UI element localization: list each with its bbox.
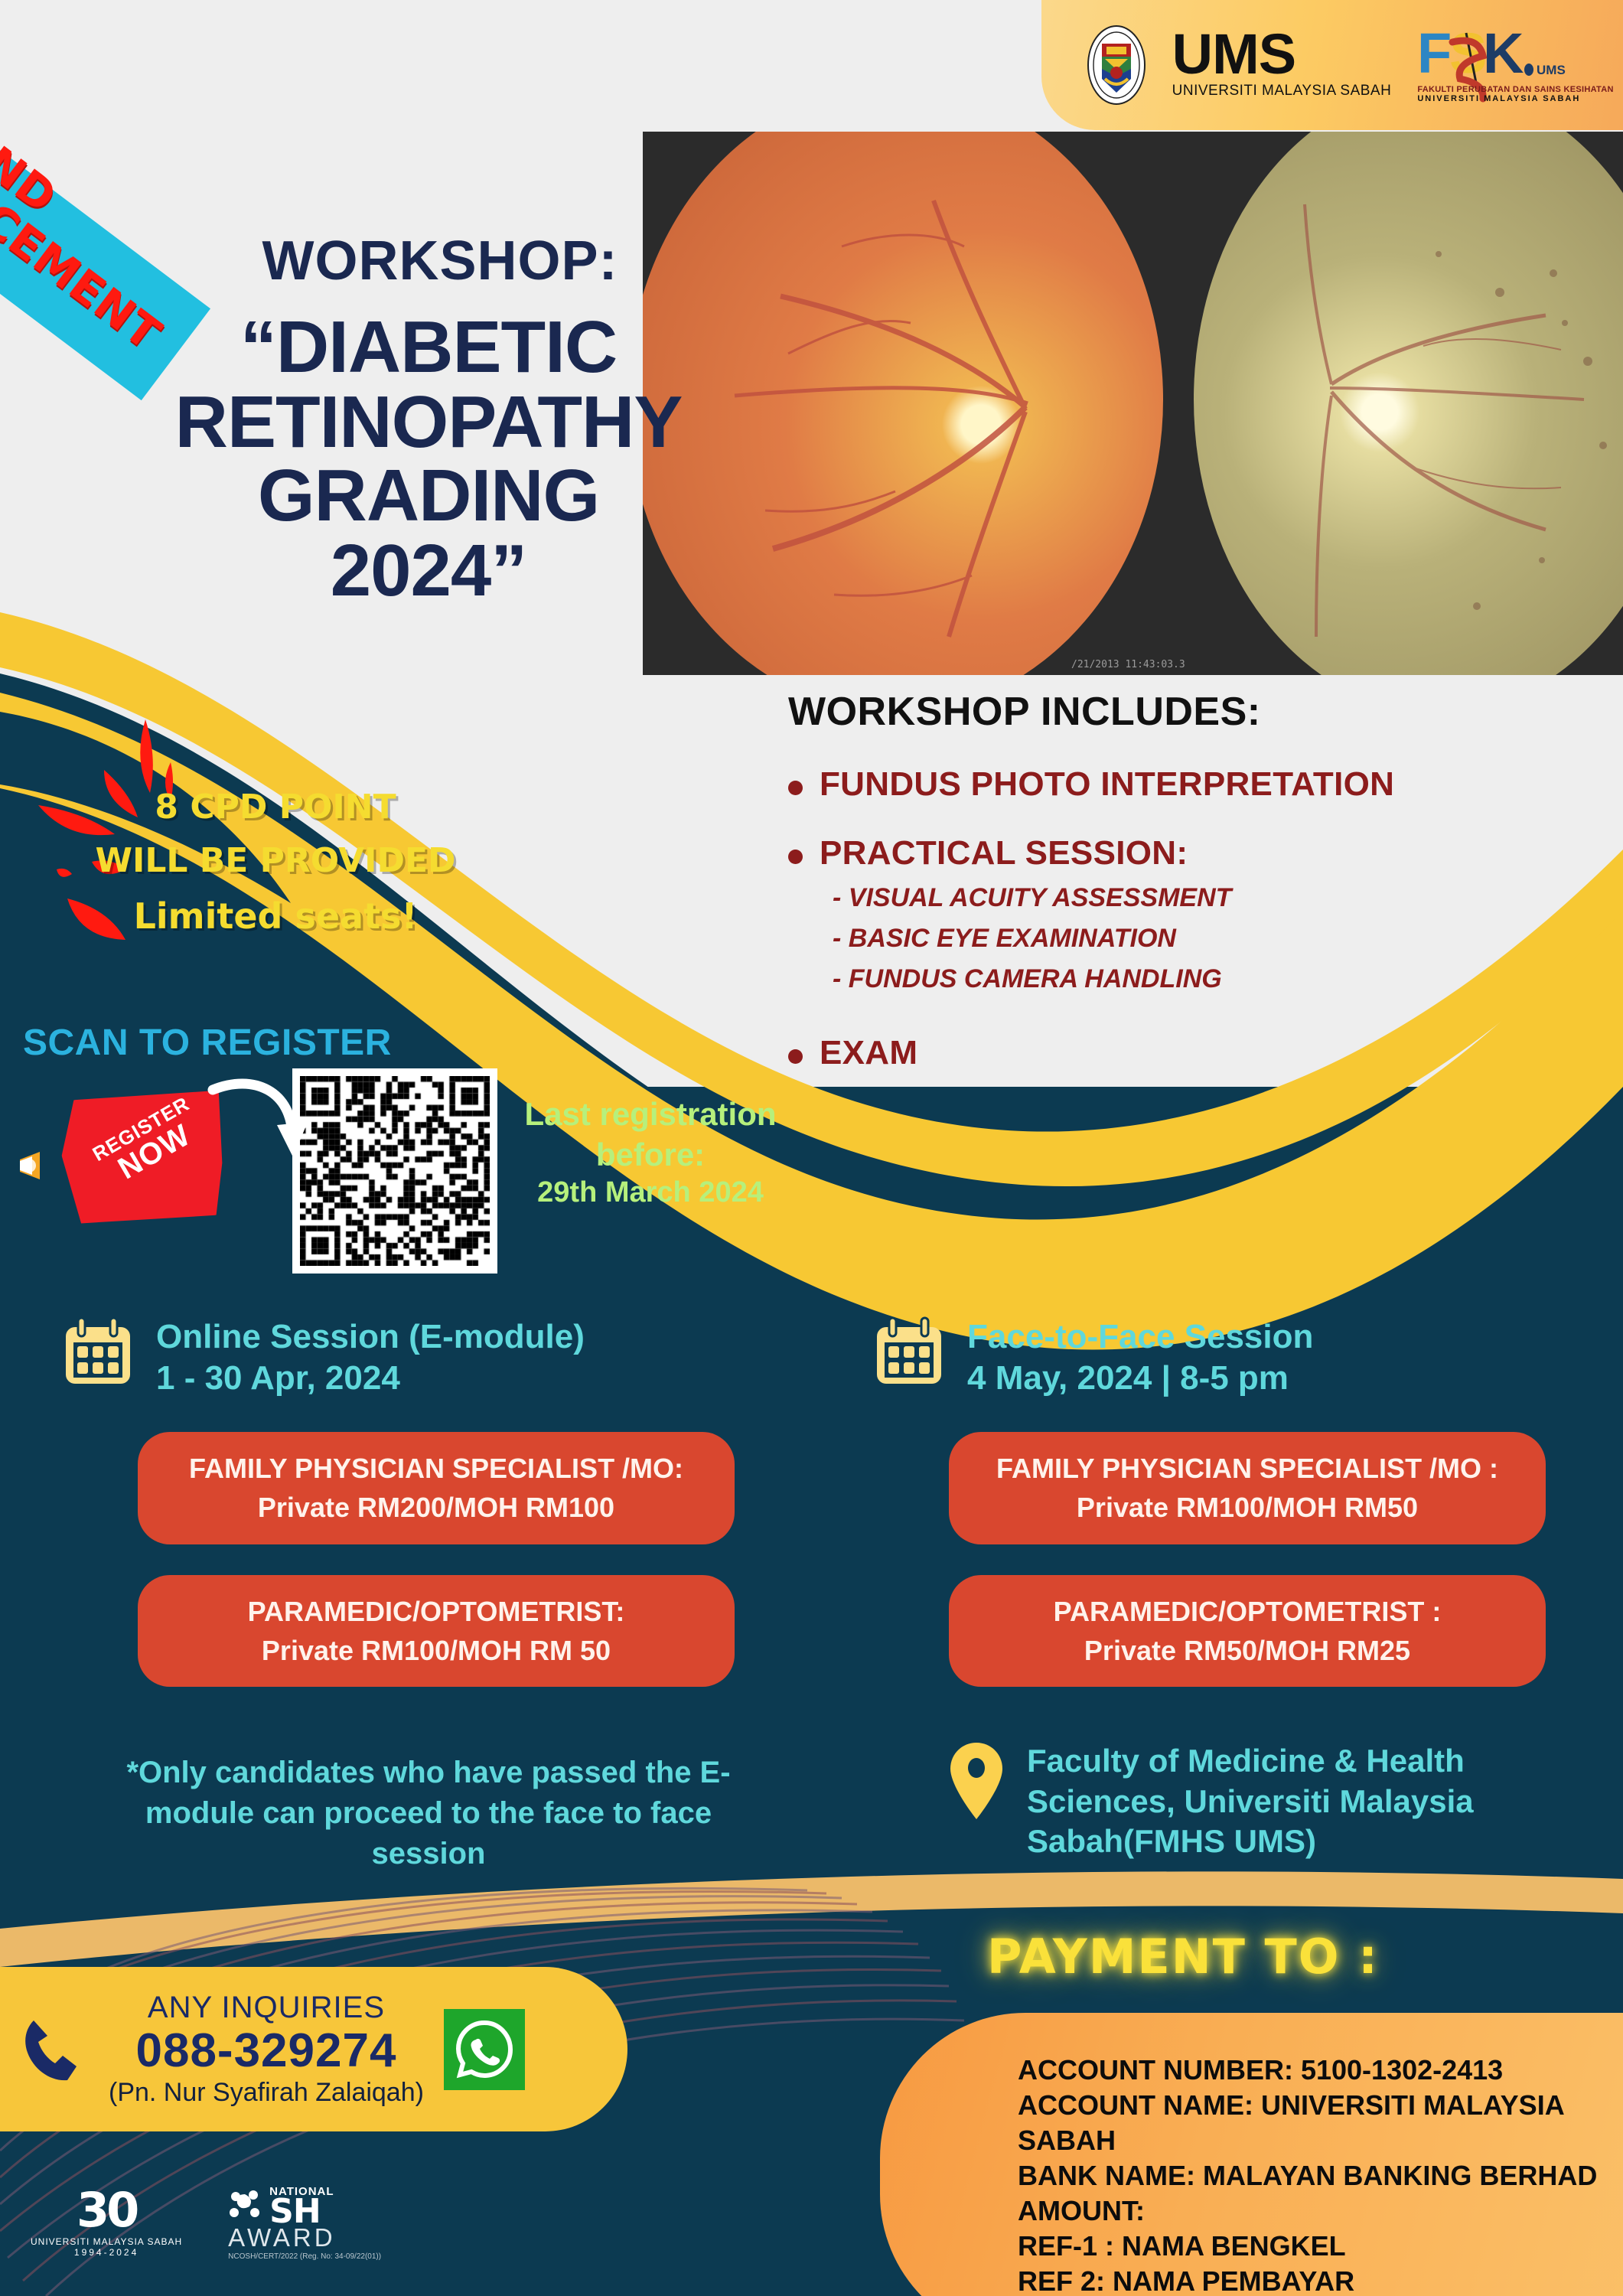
calendar-icon <box>61 1316 135 1390</box>
session-f2f-fee-1-price: Private RM100/MOH RM50 <box>972 1488 1523 1527</box>
national-osh-award-logo: NATIONAL SH AWARD NCOSH/CERT/2022 (Reg. … <box>228 2185 381 2261</box>
session-f2f-fee-2: PARAMEDIC/OPTOMETRIST : Private RM50/MOH… <box>949 1575 1546 1687</box>
curved-arrow-icon <box>207 1071 314 1171</box>
payment-line-4: AMOUNT: <box>1018 2193 1623 2229</box>
svg-text:F: F <box>1417 22 1452 85</box>
include-subitem-2: - BASIC EYE EXAMINATION <box>833 924 1592 954</box>
cpd-line-1: 8 CPD POINT <box>77 781 474 834</box>
whatsapp-button[interactable] <box>444 2009 525 2090</box>
last-registration-date: 29th March 2024 <box>505 1175 796 1212</box>
osh-emblem-icon <box>228 2190 263 2220</box>
sessions-section: Online Session (E-module) 1 - 30 Apr, 20… <box>0 1316 1623 1687</box>
last-registration-block: Last registration before: 29th March 202… <box>505 1094 796 1212</box>
session-online-name: Online Session (E-module) <box>156 1316 585 1358</box>
title-line-2: RETINOPATHY GRADING <box>0 386 857 533</box>
ums-fullname: UNIVERSITI MALAYSIA SABAH <box>1172 83 1392 99</box>
session-face-to-face: Face-to-Face Session 4 May, 2024 | 8-5 p… <box>811 1316 1622 1687</box>
workshop-includes-heading: WORKSHOP INCLUDES: <box>788 689 1592 735</box>
registration-qr-code[interactable] <box>292 1068 497 1274</box>
session-f2f-fee-1: FAMILY PHYSICIAN SPECIALIST /MO : Privat… <box>949 1432 1546 1544</box>
session-online-fee-2-role: PARAMEDIC/OPTOMETRIST: <box>161 1592 712 1631</box>
eligibility-note: *Only candidates who have passed the E-m… <box>99 1753 758 1874</box>
svg-text:K: K <box>1483 22 1524 85</box>
inquiries-label: ANY INQUIRIES <box>109 1991 424 2025</box>
session-online: Online Session (E-module) 1 - 30 Apr, 20… <box>0 1316 811 1687</box>
payment-heading: PAYMENT TO : <box>987 1929 1379 1985</box>
session-online-fee-1-role: FAMILY PHYSICIAN SPECIALIST /MO: <box>161 1449 712 1488</box>
ums-30th-anniversary-logo: 30 UNIVERSITI MALAYSIA SABAH 1994-2024 <box>31 2188 182 2258</box>
footer-logos: 30 UNIVERSITI MALAYSIA SABAH 1994-2024 N… <box>31 2185 381 2261</box>
payment-line-3: BANK NAME: MALAYAN BANKING BERHAD <box>1018 2158 1623 2193</box>
session-online-fee-1: FAMILY PHYSICIAN SPECIALIST /MO: Private… <box>138 1432 735 1544</box>
osh-registration-number: NCOSH/CERT/2022 (Reg. No: 34-09/22(01)) <box>228 2252 381 2261</box>
include-subitem-1: - VISUAL ACUITY ASSESSMENT <box>833 883 1592 913</box>
anniversary-years: 1994-2024 <box>31 2247 182 2258</box>
svg-text:UMS: UMS <box>1537 63 1566 77</box>
anniversary-number: 30 <box>31 2188 182 2233</box>
ums-crest-icon <box>1087 24 1146 106</box>
header-logo-bar: UMS UNIVERSITI MALAYSIA SABAH F S K UMS … <box>1041 0 1623 130</box>
include-item-2: PRACTICAL SESSION: <box>788 834 1592 872</box>
session-online-fee-2: PARAMEDIC/OPTOMETRIST: Private RM100/MOH… <box>138 1575 735 1687</box>
calendar-icon <box>872 1316 946 1390</box>
session-online-title: Online Session (E-module) 1 - 30 Apr, 20… <box>156 1316 585 1398</box>
whatsapp-icon <box>451 2017 517 2082</box>
fundus-timestamp: /21/2013 11:43:03.3 <box>1071 659 1185 670</box>
session-f2f-date: 4 May, 2024 | 8-5 pm <box>967 1358 1313 1399</box>
session-online-date: 1 - 30 Apr, 2024 <box>156 1358 585 1399</box>
session-f2f-fee-2-price: Private RM50/MOH RM25 <box>972 1631 1523 1670</box>
bullet-icon <box>788 781 803 795</box>
workshop-includes-section: WORKSHOP INCLUDES: FUNDUS PHOTO INTERPRE… <box>788 689 1592 1072</box>
include-subitem-3: - FUNDUS CAMERA HANDLING <box>833 964 1592 994</box>
venue-block: Faculty of Medicine & Health Sciences, U… <box>949 1741 1515 1862</box>
session-online-fee-2-price: Private RM100/MOH RM 50 <box>161 1631 712 1670</box>
title-line-3: 2024” <box>0 534 857 608</box>
inquiries-text: ANY INQUIRIES 088-329274 (Pn. Nur Syafir… <box>109 1991 424 2107</box>
osh-top-row: NATIONAL SH <box>228 2185 381 2225</box>
ums-acronym: UMS <box>1172 31 1392 79</box>
location-pin-icon <box>949 1741 1004 1821</box>
anniversary-name: UNIVERSITI MALAYSIA SABAH <box>31 2236 182 2247</box>
cpd-line-3: Limited seats! <box>77 889 474 945</box>
last-registration-label: Last registration before: <box>505 1094 796 1175</box>
poster-root: /21/2013 11:43:03.3 UMS UNIVERSITI MALAY… <box>0 0 1623 2296</box>
session-f2f-name: Face-to-Face Session <box>967 1316 1313 1358</box>
include-item-1-label: FUNDUS PHOTO INTERPRETATION <box>820 765 1394 804</box>
payment-line-5: REF-1 : NAMA BENGKEL <box>1018 2229 1623 2264</box>
session-f2f-fee-1-role: FAMILY PHYSICIAN SPECIALIST /MO : <box>972 1449 1523 1488</box>
venue-address: Faculty of Medicine & Health Sciences, U… <box>1027 1741 1515 1862</box>
inquiries-phone[interactable]: 088-329274 <box>109 2025 424 2077</box>
bullet-icon <box>788 1049 803 1064</box>
session-f2f-fee-2-role: PARAMEDIC/OPTOMETRIST : <box>972 1592 1523 1631</box>
osh-award-label: AWARD <box>228 2225 381 2250</box>
include-item-3: EXAM <box>788 1034 1592 1072</box>
cpd-line-2: WILL BE PROVIDED <box>77 834 474 888</box>
bullet-icon <box>788 850 803 864</box>
include-item-3-label: EXAM <box>820 1034 917 1072</box>
fsk-fullname-line2: UNIVERSITI MALAYSIA SABAH <box>1417 94 1613 103</box>
inquiries-block: ANY INQUIRIES 088-329274 (Pn. Nur Syafir… <box>0 1967 627 2131</box>
osh-sh-label: SH <box>269 2198 334 2225</box>
inquiries-person: (Pn. Nur Syafirah Zalaiqah) <box>109 2078 424 2108</box>
fsk-fullname-line1: FAKULTI PERUBATAN DAN SAINS KESIHATAN <box>1417 85 1613 94</box>
session-f2f-header: Face-to-Face Session 4 May, 2024 | 8-5 p… <box>872 1316 1561 1398</box>
session-online-header: Online Session (E-module) 1 - 30 Apr, 20… <box>61 1316 750 1398</box>
phone-icon <box>15 2013 89 2086</box>
payment-line-1: ACCOUNT NUMBER: 5100-1302-2413 <box>1018 2053 1623 2088</box>
session-online-fee-1-price: Private RM200/MOH RM100 <box>161 1488 712 1527</box>
payment-details-box: ACCOUNT NUMBER: 5100-1302-2413 ACCOUNT N… <box>880 2013 1623 2296</box>
include-item-1: FUNDUS PHOTO INTERPRETATION <box>788 765 1592 804</box>
payment-line-2: ACCOUNT NAME: UNIVERSITI MALAYSIA SABAH <box>1018 2088 1623 2158</box>
payment-line-6: REF 2: NAMA PEMBAYAR <box>1018 2264 1623 2296</box>
include-item-2-label: PRACTICAL SESSION: <box>820 834 1188 872</box>
session-f2f-title: Face-to-Face Session 4 May, 2024 | 8-5 p… <box>967 1316 1313 1398</box>
cpd-points-block: 8 CPD POINT WILL BE PROVIDED Limited sea… <box>77 781 474 944</box>
scan-to-register-heading: SCAN TO REGISTER <box>23 1022 392 1064</box>
